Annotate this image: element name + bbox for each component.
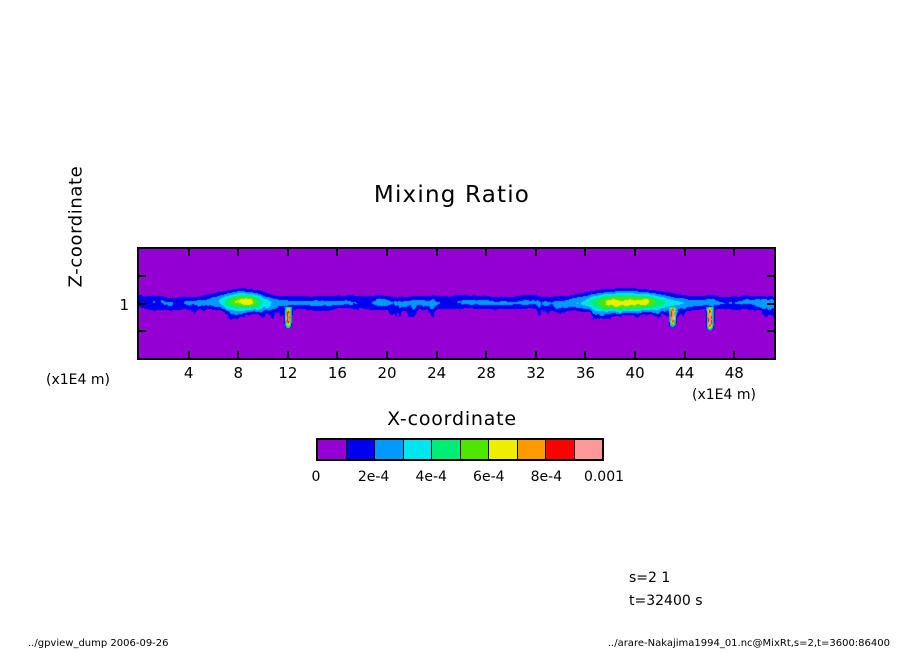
colorbar-segment-1 (347, 440, 376, 459)
x-tick-mark (634, 249, 636, 256)
colorbar-segment-8 (546, 440, 575, 459)
x-tick-mark (535, 351, 537, 358)
colorbar-tick-label: 2e-4 (346, 469, 402, 485)
x-tick-mark (485, 351, 487, 358)
colorbar-tick-label: 6e-4 (461, 469, 517, 485)
x-tick-label: 24 (417, 364, 457, 382)
x-tick-label: 8 (218, 364, 258, 382)
y-axis-title: Z-coordinate (66, 127, 87, 327)
x-tick-label: 32 (516, 364, 556, 382)
colorbar-tick-label: 8e-4 (518, 469, 574, 485)
y-tick-mark (139, 303, 146, 305)
y-tick-mark (767, 303, 774, 305)
x-tick-mark (386, 249, 388, 256)
colorbar (316, 438, 604, 461)
x-tick-mark (684, 351, 686, 358)
colorbar-tick-label: 4e-4 (403, 469, 459, 485)
x-tick-mark (634, 351, 636, 358)
x-tick-mark (436, 351, 438, 358)
colorbar-segment-2 (375, 440, 404, 459)
footer-left-text: ../gpview_dump 2006-09-26 (28, 638, 169, 649)
colorbar-tick-label: 0 (288, 469, 344, 485)
x-tick-label: 28 (466, 364, 506, 382)
x-tick-mark (436, 249, 438, 256)
x-tick-mark (684, 249, 686, 256)
x-tick-mark (287, 249, 289, 256)
y-tick-mark (139, 330, 146, 332)
y-tick-mark (767, 330, 774, 332)
y-tick-mark (139, 275, 146, 277)
x-tick-mark (584, 249, 586, 256)
x-tick-label: 44 (665, 364, 705, 382)
x-tick-mark (733, 249, 735, 256)
y-axis-units: (x1E4 m) (46, 372, 110, 388)
x-tick-mark (535, 249, 537, 256)
x-tick-mark (733, 351, 735, 358)
x-tick-label: 4 (169, 364, 209, 382)
colorbar-segment-6 (489, 440, 518, 459)
x-tick-label: 20 (367, 364, 407, 382)
colorbar-segment-7 (518, 440, 547, 459)
colorbar-segment-4 (432, 440, 461, 459)
x-tick-mark (287, 351, 289, 358)
x-tick-mark (188, 249, 190, 256)
x-tick-label: 40 (615, 364, 655, 382)
y-tick-label: 1 (103, 296, 129, 314)
annotation-time: t=32400 s (629, 593, 703, 609)
colorbar-tick-label: 0.001 (576, 469, 632, 485)
annotation-step: s=2 1 (629, 570, 670, 586)
x-tick-label: 48 (714, 364, 754, 382)
footer-right-text: ../arare-Nakajima1994_01.nc@MixRt,s=2,t=… (608, 638, 890, 649)
x-tick-mark (386, 351, 388, 358)
x-tick-mark (584, 351, 586, 358)
x-tick-mark (237, 351, 239, 358)
page-title: Mixing Ratio (0, 182, 904, 208)
x-axis-units: (x1E4 m) (692, 387, 756, 403)
colorbar-segment-5 (461, 440, 490, 459)
x-tick-mark (336, 249, 338, 256)
x-tick-mark (237, 249, 239, 256)
colorbar-segment-3 (404, 440, 433, 459)
contour-field-canvas (139, 249, 774, 358)
x-tick-label: 16 (317, 364, 357, 382)
x-axis-title: X-coordinate (0, 408, 904, 430)
y-tick-mark (767, 275, 774, 277)
x-tick-label: 36 (565, 364, 605, 382)
x-tick-mark (485, 249, 487, 256)
x-tick-mark (336, 351, 338, 358)
colorbar-segment-9 (575, 440, 603, 459)
x-tick-label: 12 (268, 364, 308, 382)
x-tick-mark (188, 351, 190, 358)
colorbar-segment-0 (318, 440, 347, 459)
